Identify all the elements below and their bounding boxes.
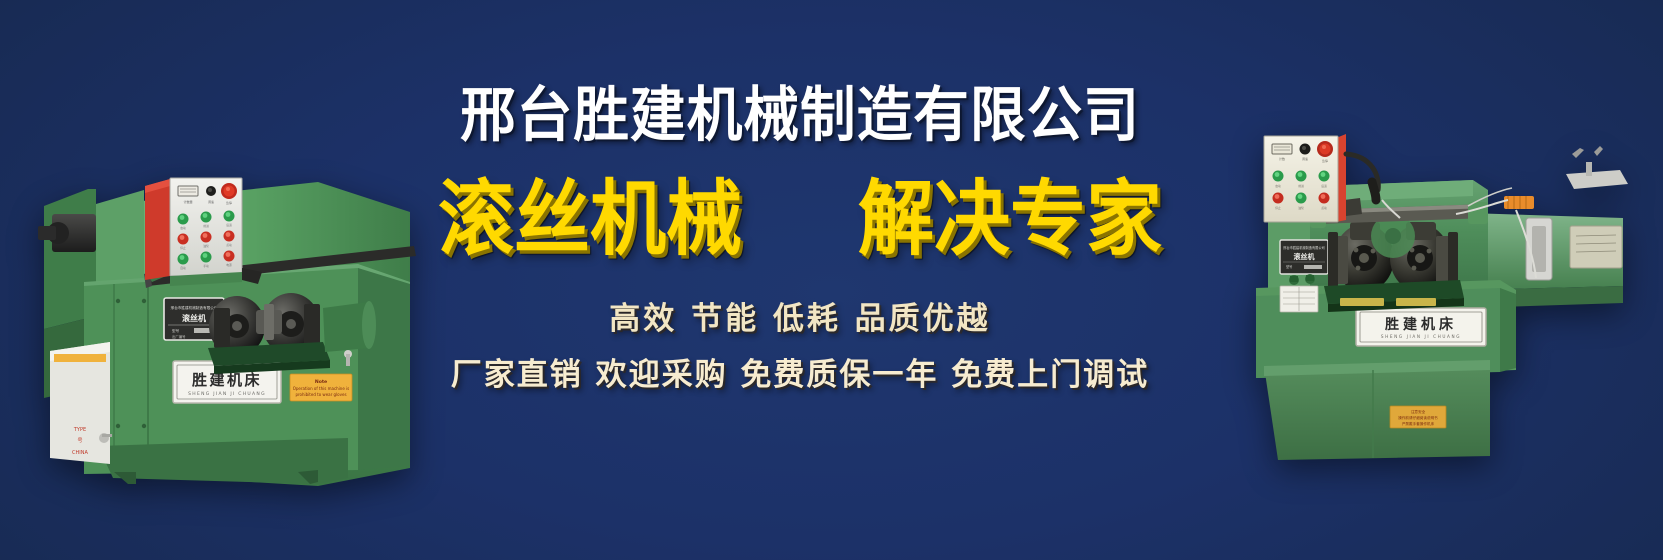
- svg-text:Note: Note: [315, 379, 327, 385]
- svg-text:电源: 电源: [226, 263, 232, 267]
- svg-text:点动: 点动: [226, 243, 232, 247]
- svg-text:号: 号: [77, 438, 82, 444]
- svg-text:启动: 启动: [1275, 184, 1281, 188]
- thread-rolling-machine-left-image: 胜建机床 SHENG JIAN JI CHUANG Note Operation…: [18, 86, 438, 486]
- svg-text:后退: 后退: [226, 223, 232, 227]
- svg-text:注意安全: 注意安全: [1411, 409, 1426, 414]
- svg-text:后退: 后退: [1321, 184, 1327, 188]
- svg-text:胜建机床: 胜建机床: [1385, 316, 1457, 333]
- svg-text:点动: 点动: [1321, 206, 1327, 210]
- svg-text:操作前请仔细阅读说明书: 操作前请仔细阅读说明书: [1398, 415, 1438, 420]
- svg-text:停止: 停止: [1275, 206, 1281, 210]
- svg-text:前进: 前进: [203, 224, 209, 228]
- headline: 滚丝机械 解决专家: [390, 184, 1210, 260]
- svg-text:停止: 停止: [180, 246, 186, 250]
- electrical-cabinet-left: TYPE 号 CHINA: [50, 342, 112, 464]
- svg-text:SHENG JIAN JI CHUANG: SHENG JIAN JI CHUANG: [188, 391, 266, 397]
- subtitle-line-2: 厂家直销 欢迎采购 免费质保一年 免费上门调试: [390, 360, 1210, 391]
- headline-right: 解决专家: [858, 178, 1162, 260]
- svg-text:邢台市胜建机械制造有限公司: 邢台市胜建机械制造有限公司: [1283, 245, 1324, 250]
- svg-text:急停: 急停: [1322, 158, 1328, 163]
- svg-text:调速: 调速: [208, 199, 214, 204]
- svg-text:手动: 手动: [203, 264, 209, 268]
- svg-text:急停: 急停: [226, 200, 232, 205]
- svg-text:油泵: 油泵: [1298, 206, 1304, 210]
- headline-left: 滚丝机械: [438, 178, 742, 260]
- company-title: 邢台胜建机械制造有限公司: [378, 86, 1223, 145]
- svg-text:邢台市胜建机械制造有限公司: 邢台市胜建机械制造有限公司: [171, 305, 218, 310]
- machine-nameplate-right: 胜建机床 SHENG JIAN JI CHUANG: [1356, 308, 1486, 346]
- svg-text:prohibited to wear gloves: prohibited to wear gloves: [295, 392, 346, 397]
- svg-text:胜建机床: 胜建机床: [192, 371, 262, 389]
- svg-text:Operation of this machine is: Operation of this machine is: [293, 386, 350, 391]
- control-panel-right: 急停 计数 调速 启动 前进 后退 停止 油泵 点动: [1264, 134, 1346, 222]
- spec-plate-right: 邢台市胜建机械制造有限公司 滚丝机 型号: [1280, 240, 1328, 274]
- svg-text:油泵: 油泵: [203, 244, 209, 248]
- thread-rolling-machine-right-image: 胜建机床 SHENG JIAN JI CHUANG 注意安全 操作前请仔细阅读说…: [1168, 118, 1648, 468]
- svg-text:出厂编号: 出厂编号: [172, 334, 186, 339]
- svg-text:滚丝机: 滚丝机: [182, 313, 206, 323]
- svg-text:型号: 型号: [172, 328, 180, 333]
- svg-text:启动: 启动: [180, 226, 186, 230]
- svg-text:CHINA: CHINA: [72, 450, 88, 456]
- subtitle-line-1: 高效 节能 低耗 品质优越: [390, 304, 1210, 335]
- svg-text:型号: 型号: [1286, 264, 1292, 269]
- promotional-banner: 胜建机床 SHENG JIAN JI CHUANG Note Operation…: [0, 0, 1663, 560]
- warning-sticker-left: Note Operation of this machine is prohib…: [290, 374, 352, 401]
- svg-text:前进: 前进: [1298, 184, 1304, 188]
- svg-text:TYPE: TYPE: [73, 427, 86, 433]
- svg-text:滚丝机: 滚丝机: [1294, 252, 1315, 261]
- svg-text:调速: 调速: [1302, 156, 1308, 161]
- svg-text:严禁戴手套操作机床: 严禁戴手套操作机床: [1402, 421, 1435, 426]
- svg-text:计数: 计数: [1279, 156, 1285, 161]
- banner-text-block: 邢台胜建机械制造有限公司 滚丝机械 解决专家 高效 节能 低耗 品质优越 厂家直…: [390, 86, 1210, 391]
- svg-text:计数器: 计数器: [183, 199, 192, 204]
- svg-text:SHENG JIAN JI CHUANG: SHENG JIAN JI CHUANG: [1381, 334, 1461, 339]
- svg-text:自动: 自动: [180, 266, 186, 270]
